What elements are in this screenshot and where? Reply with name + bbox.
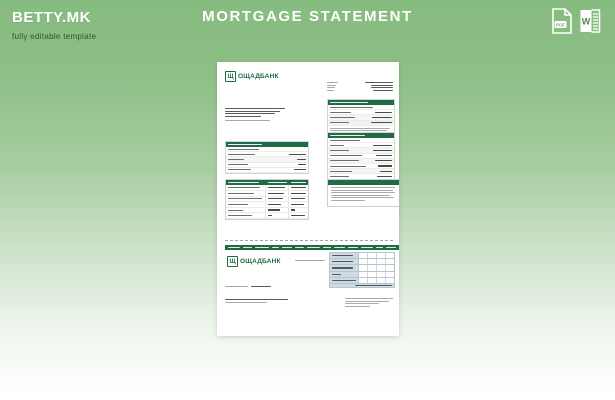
table-row — [226, 213, 308, 219]
oschadbank-logo-icon: Щ — [225, 71, 236, 82]
table-row — [226, 168, 308, 173]
bank-contact-block — [327, 82, 393, 92]
notice-panel — [327, 179, 399, 207]
footer-address — [225, 299, 293, 305]
customer-address-block — [225, 108, 287, 122]
footer-meta — [345, 298, 393, 308]
bank-name: ОЩАДБАНК — [238, 73, 279, 80]
loan-details-panel — [225, 141, 309, 174]
oschadbank-logo-icon: Щ — [227, 256, 238, 267]
payment-slip-grid[interactable] — [329, 252, 395, 288]
payment-slip-logo: Щ ОЩАДБАНК — [227, 256, 281, 267]
payment-slip-instruction — [295, 260, 325, 263]
transactions-table — [225, 179, 309, 220]
brand-subtitle: fully editable template — [12, 32, 96, 41]
svg-text:PDF: PDF — [556, 23, 565, 28]
payment-slip-bar — [225, 245, 399, 250]
bank-logo: Щ ОЩАДБАНК — [225, 71, 279, 82]
format-badges: PDF W — [551, 8, 601, 34]
svg-text:W: W — [582, 17, 591, 27]
slip-bank-name: ОЩАДБАНК — [240, 258, 281, 265]
payment-slip-total — [330, 284, 394, 287]
footer-reference — [225, 286, 275, 289]
page-title: MORTGAGE STATEMENT — [0, 8, 615, 25]
document-page[interactable]: Щ ОЩАДБАНК — [217, 62, 399, 336]
pdf-file-icon[interactable]: PDF — [551, 8, 573, 34]
word-file-icon[interactable]: W — [579, 8, 601, 34]
perforation-line — [225, 240, 393, 241]
notice-title — [328, 180, 399, 185]
